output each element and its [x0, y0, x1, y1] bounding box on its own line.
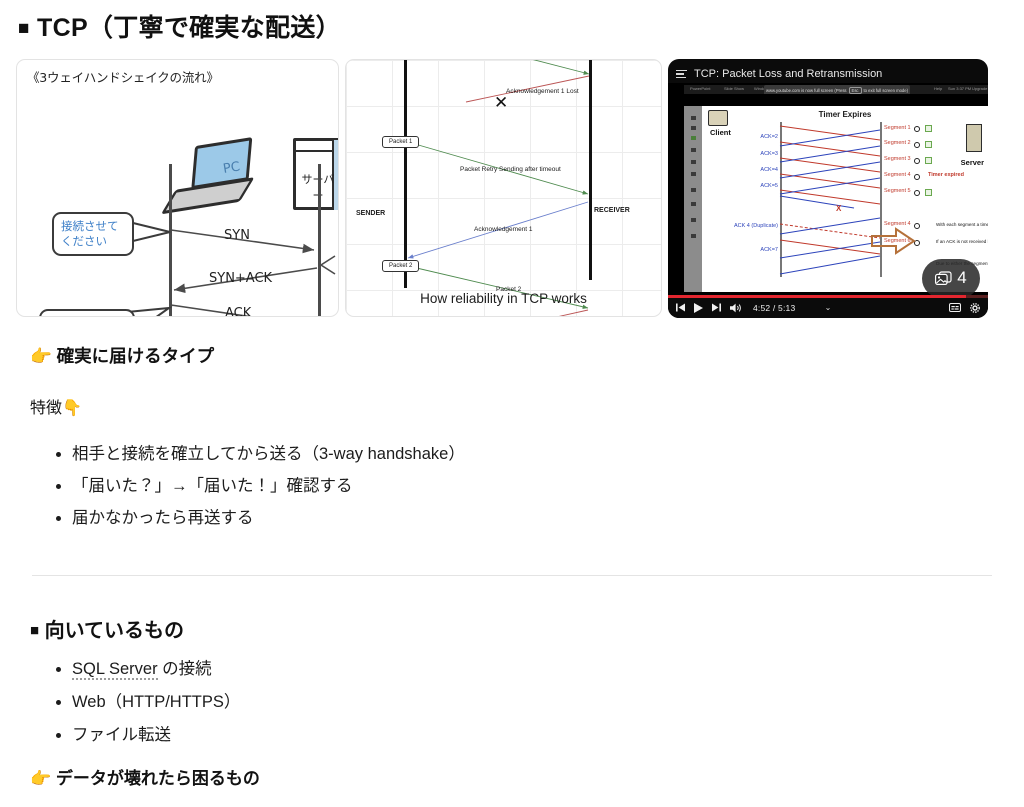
os-clock: Sun 3:37 PM [948, 86, 971, 91]
client-lifeline [169, 164, 172, 316]
video-player[interactable]: TCP: Packet Loss and Retransmission Powe… [668, 59, 988, 318]
lead-heading-text: 確実に届けるタイプ [57, 346, 215, 366]
suited-heading-marker-icon: ■ [30, 622, 39, 639]
slide-segment-3: Segment 3 [884, 156, 911, 162]
slide-ack-2: ACK=2 [730, 134, 778, 140]
suited-item-0-rest: の接続 [158, 660, 212, 678]
suited-list: SQL Server の接続 Web（HTTP/HTTPS） ファイル転送 [16, 653, 1008, 752]
feature-list: 相手と接続を確立してから送る（3-way handshake） 「届いた？」→「… [16, 438, 1008, 535]
client-request-bubble: 接続させてください [52, 212, 134, 256]
lost-ack-x-mark: ✕ [494, 93, 508, 113]
footer-lead-text: データが壊れたら困るもの [56, 769, 260, 788]
settings-button[interactable] [970, 303, 980, 313]
video-title: TCP: Packet Loss and Retransmission [694, 68, 882, 80]
volume-button[interactable] [730, 303, 742, 313]
os-menubar: PowerPoint Slide Show Window Help Sun 3:… [684, 85, 988, 94]
fullscreen-toast-text: www.youtube.com is now full screen (Pres… [766, 88, 847, 93]
gallery-badge[interactable]: 4 [922, 259, 980, 298]
msg-syn: SYN [224, 228, 250, 243]
section-divider [32, 575, 992, 576]
suited-item-0-term: SQL Server [72, 660, 158, 680]
pointing-right-icon: 👉 [30, 347, 52, 367]
page-root: ■ TCP（丁寧で確実な配送） 《3ウェイハンドシェイクの流れ》 PC サーバー [0, 12, 1024, 807]
check-icon-2 [925, 141, 932, 148]
slide-bullet-1: With each segment a timer is set. [936, 222, 988, 229]
list-item: Web（HTTP/HTTPS） [72, 686, 1008, 719]
slide-x-mark: X [836, 204, 841, 213]
os-upgrade: Upgrade [972, 86, 987, 91]
server-lifeline [318, 164, 321, 316]
timer-expired-label: Timer expired [928, 172, 964, 178]
lead-heading: 👉 確実に届けるタイプ [30, 343, 1008, 368]
presenter-toolbar [684, 106, 702, 292]
list-item: 「届いた？」→「届いた！」確認する [72, 470, 1008, 502]
packet-box-2: Packet 2 [382, 260, 419, 272]
video-controls[interactable]: 4:52 / 5:13 ⌄ [668, 298, 988, 318]
footer-lead-heading: 👉 データが壊れたら困るもの [30, 764, 1008, 789]
sender-label: SENDER [356, 210, 385, 217]
pointing-down-icon: 👇 [62, 398, 82, 417]
list-item: ファイル転送 [72, 719, 1008, 752]
slide-ack-7: ACK=7 [730, 247, 778, 253]
menu-icon[interactable] [676, 68, 687, 81]
figure-three-way-handshake[interactable]: 《3ウェイハンドシェイクの流れ》 PC サーバー [16, 59, 339, 317]
msg-ack: ACK [225, 306, 251, 317]
play-button[interactable] [694, 303, 703, 313]
previous-button[interactable] [676, 303, 685, 312]
video-timestamp: 4:52 / 5:13 [753, 303, 795, 313]
letterbox [684, 94, 988, 106]
next-button[interactable] [712, 303, 721, 312]
list-item: 届かなかったら再送する [72, 502, 1008, 534]
reliability-caption: How reliability in TCP works [346, 291, 661, 306]
chevron-down-icon[interactable]: ⌄ [825, 303, 832, 312]
check-icon-3 [925, 157, 932, 164]
subtitles-button[interactable] [949, 303, 961, 312]
packet-box-1: Packet 1 [382, 136, 419, 148]
figure-tcp-reliability[interactable]: ✕ Packet 1 Packet 2 SENDER RECEIVER Ackn… [345, 59, 662, 317]
feature-label-line: 特徴👇 [30, 394, 1008, 418]
server-icon: サーバー [293, 138, 339, 210]
slide-bullet-2: If an ACK is not received before the tim… [936, 239, 988, 246]
slide-ack-5: ACK=5 [730, 183, 778, 189]
slide-ack-4: ACK=4 [730, 167, 778, 173]
laptop-label: PC [222, 159, 241, 176]
pointing-right-icon-2: 👉 [30, 769, 51, 789]
label-ack1: Acknowledgement 1 [474, 226, 533, 233]
laptop-icon: PC [160, 137, 262, 219]
feature-label: 特徴 [30, 400, 62, 417]
receiver-label: RECEIVER [594, 207, 630, 214]
gallery-badge-count: 4 [957, 268, 966, 288]
list-item: SQL Server の接続 [72, 653, 1008, 686]
slide-segment-2: Segment 2 [884, 140, 911, 146]
suited-heading-text: 向いているもの [45, 620, 184, 642]
page-title: ■ TCP（丁寧で確実な配送） [18, 12, 1008, 46]
page-title-text: TCP（丁寧で確実な配送） [37, 14, 341, 42]
os-menu-powerpoint: PowerPoint [690, 86, 710, 91]
label-packet-retry: Packet Retry Sending after timeout [460, 166, 561, 173]
big-arrow-icon [870, 226, 916, 256]
os-menu-help: Help [934, 86, 942, 91]
slide-segment-5: Segment 5 [884, 188, 911, 194]
slide-ack-4-duplicate: ACK 4 (Duplicate) [706, 223, 778, 229]
msg-syn-ack: SYN+ACK [209, 271, 272, 286]
list-item: 相手と接続を確立してから送る（3-way handshake） [72, 438, 1008, 470]
check-icon-5 [925, 189, 932, 196]
handshake-title: 《3ウェイハンドシェイクの流れ》 [27, 67, 219, 86]
video-title-bar: TCP: Packet Loss and Retransmission [676, 65, 980, 83]
fullscreen-toast-tail: to exit full screen mode) [864, 88, 908, 93]
slide-segment-4: Segment 4 [884, 172, 911, 178]
check-icon-1 [925, 125, 932, 132]
slide-segment-1: Segment 1 [884, 125, 911, 131]
figure-strip: 《3ウェイハンドシェイクの流れ》 PC サーバー [16, 59, 1008, 318]
receiver-lifeline [589, 59, 592, 280]
slide-ack-3: ACK=3 [730, 151, 778, 157]
client-ack-bubble: 了解しました [39, 309, 135, 317]
gallery-icon [935, 271, 952, 286]
suited-heading: ■ 向いているもの [30, 614, 1008, 643]
sender-lifeline [404, 59, 407, 288]
label-ack1-lost: Acknowledgement 1 Lost [506, 88, 579, 95]
heading-marker-icon: ■ [18, 18, 30, 39]
os-menu-slideshow: Slide Show [724, 86, 744, 91]
